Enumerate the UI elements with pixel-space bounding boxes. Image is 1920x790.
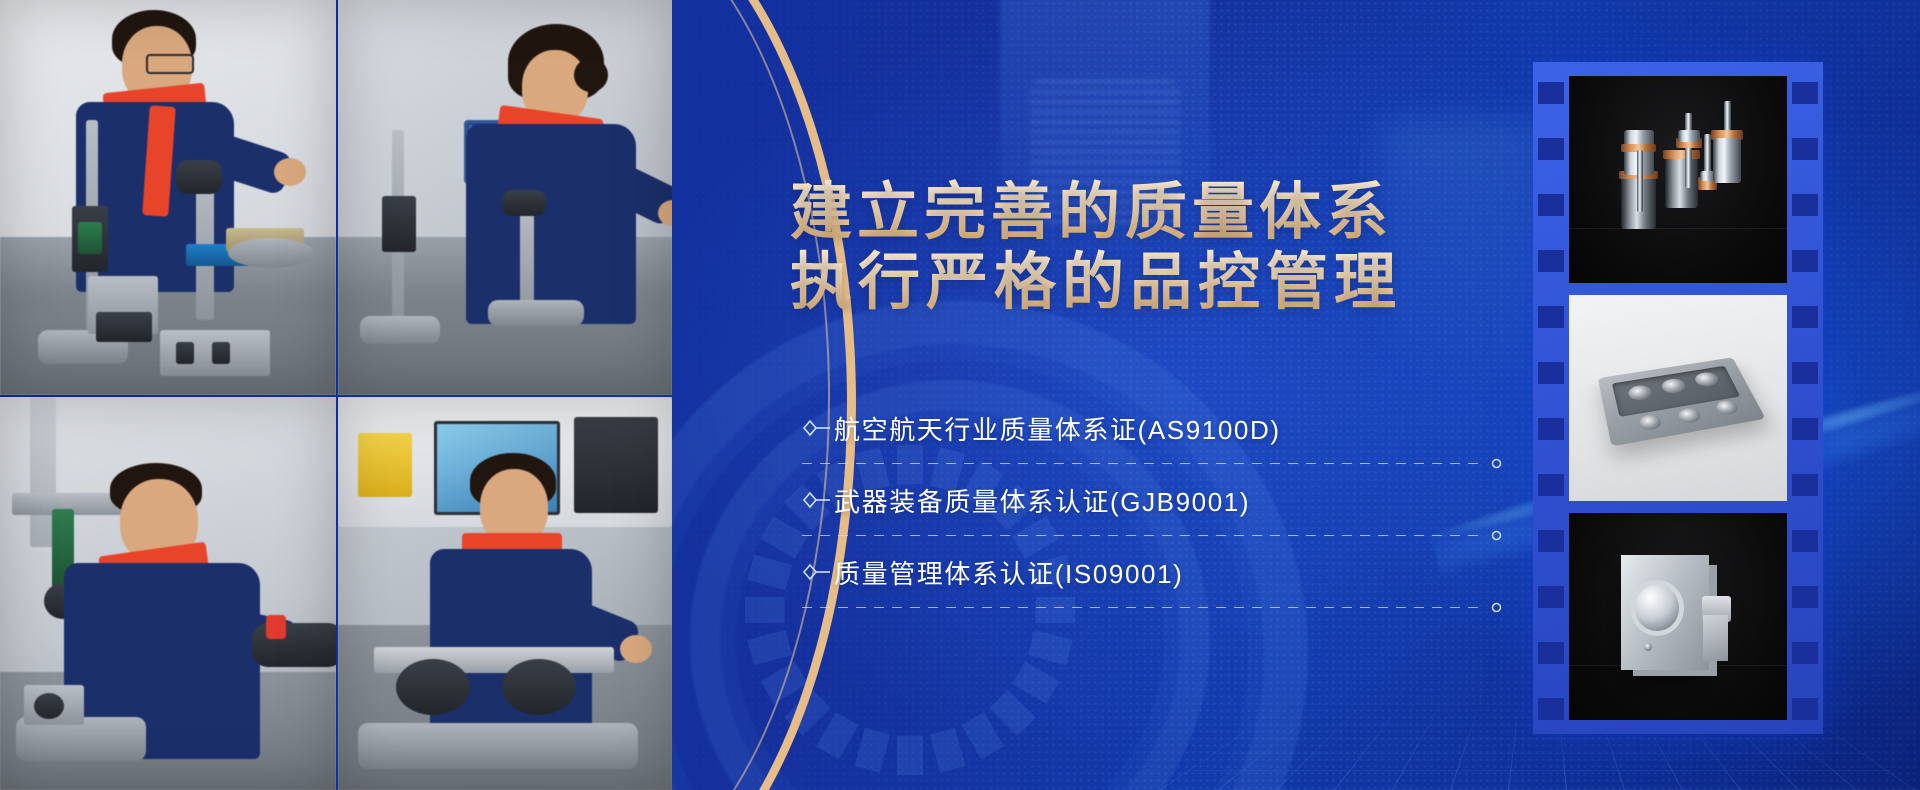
filmstrip-perforations-left	[1538, 62, 1564, 734]
certification-label: 武器装备质量体系认证(GJB9001)	[834, 482, 1250, 519]
product-filmstrip	[1533, 62, 1823, 734]
certification-list: 航空航天行业质量体系证(AS9100D) 武器装备质量体系认证(GJB9001)	[800, 400, 1460, 616]
quality-system-banner: 建立完善的质量体系 执行严格的品控管理 航空航天行业质量体系证(AS9100D)	[0, 0, 1920, 790]
dashed-separator	[802, 607, 1478, 608]
headline-line-2: 执行严格的品控管理	[790, 248, 1402, 318]
hexagon-bullet-icon	[800, 562, 834, 582]
certification-label: 航空航天行业质量体系证(AS9100D)	[834, 410, 1281, 447]
photo-collage	[0, 0, 672, 790]
dashed-separator	[802, 463, 1478, 464]
hexagon-bullet-icon	[800, 490, 834, 510]
product-machined-aluminum-housing	[1569, 295, 1787, 502]
list-item: 质量管理体系认证(IS09001)	[800, 544, 1460, 616]
headline-line-1: 建立完善的质量体系	[790, 178, 1402, 248]
list-item: 航空航天行业质量体系证(AS9100D)	[800, 400, 1460, 472]
end-node-icon	[1489, 600, 1504, 615]
filmstrip-perforations-right	[1792, 62, 1818, 734]
hexagon-bullet-icon	[800, 418, 834, 438]
end-node-icon	[1489, 456, 1504, 471]
photo-cmm-coordinate-measuring	[0, 397, 336, 790]
end-node-icon	[1489, 528, 1504, 543]
list-item: 武器装备质量体系认证(GJB9001)	[800, 472, 1460, 544]
dashed-separator	[802, 535, 1478, 536]
certification-label: 质量管理体系认证(IS09001)	[834, 554, 1183, 591]
product-bearing-block-assembly	[1569, 513, 1787, 720]
headline-block: 建立完善的质量体系 执行严格的品控管理	[790, 178, 1402, 318]
product-precision-shafts-bushings	[1569, 76, 1787, 283]
photo-inspector-height-gauge	[0, 0, 336, 395]
